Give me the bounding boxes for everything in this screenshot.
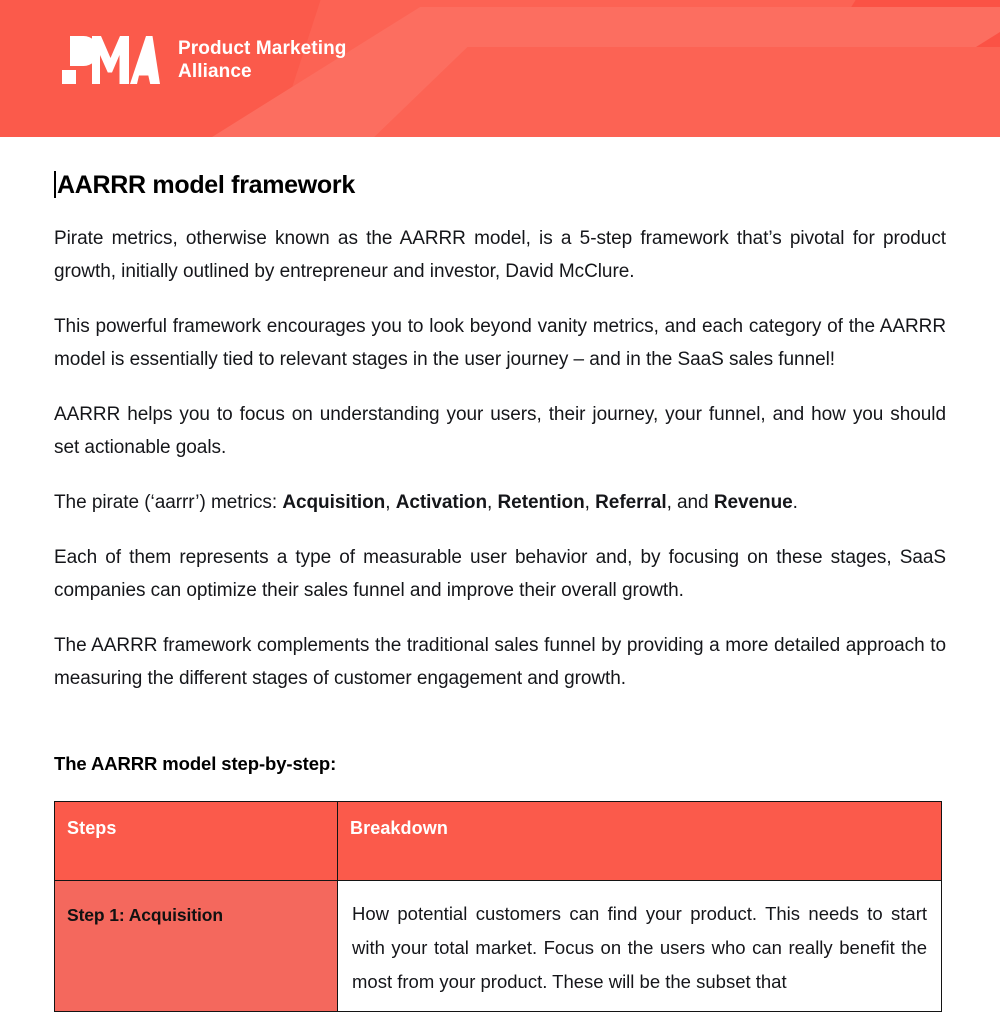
paragraph-complements-funnel: The AARRR framework complements the trad… <box>54 629 946 695</box>
pma-wordmark: Product Marketing Alliance <box>178 37 347 84</box>
metrics-sep-1: , <box>385 492 395 513</box>
metric-term-referral: Referral <box>595 492 666 513</box>
metric-term-revenue: Revenue <box>714 492 793 513</box>
table-row: Step 1: Acquisition How potential custom… <box>55 881 942 1012</box>
table-head: Steps Breakdown <box>55 802 942 881</box>
banner-decorative-shape-c <box>687 0 1000 137</box>
pma-logo: Product Marketing Alliance <box>62 36 347 84</box>
table-cell-breakdown: How potential customers can find your pr… <box>338 881 942 1012</box>
metric-term-retention: Retention <box>498 492 585 513</box>
metrics-conjunction: , and <box>667 492 714 513</box>
metric-term-acquisition: Acquisition <box>282 492 385 513</box>
metric-term-activation: Activation <box>396 492 487 513</box>
page-title-text: AARRR model framework <box>57 171 355 199</box>
paragraph-measurable-behavior: Each of them represents a type of measur… <box>54 541 946 607</box>
table-body: Step 1: Acquisition How potential custom… <box>55 881 942 1012</box>
paragraph-metrics-list: The pirate (‘aarrr’) metrics: Acquisitio… <box>54 486 946 519</box>
paragraph-intro: Pirate metrics, otherwise known as the A… <box>54 222 946 288</box>
page-title: AARRR model framework <box>54 171 355 200</box>
table-cell-step-name: Step 1: Acquisition <box>55 881 338 1012</box>
paragraph-focus: AARRR helps you to focus on understandin… <box>54 398 946 464</box>
metrics-sep-3: , <box>585 492 595 513</box>
metrics-sep-2: , <box>487 492 497 513</box>
metrics-prefix: The pirate (‘aarrr’) metrics: <box>54 492 282 513</box>
table-header-row: Steps Breakdown <box>55 802 942 881</box>
metrics-suffix: . <box>793 492 798 513</box>
page-header-banner: Product Marketing Alliance <box>0 0 1000 137</box>
document-body: AARRR model framework Pirate metrics, ot… <box>0 137 1000 1012</box>
aarrr-steps-table: Steps Breakdown Step 1: Acquisition How … <box>54 801 942 1012</box>
table-header-breakdown: Breakdown <box>338 802 942 881</box>
section-title-step-by-step: The AARRR model step-by-step: <box>54 753 946 775</box>
pma-monogram-icon <box>62 36 160 84</box>
banner-decorative-shape-e <box>250 47 1000 137</box>
paragraph-framework: This powerful framework encourages you t… <box>54 310 946 376</box>
text-cursor-caret <box>54 171 56 198</box>
table-header-steps: Steps <box>55 802 338 881</box>
